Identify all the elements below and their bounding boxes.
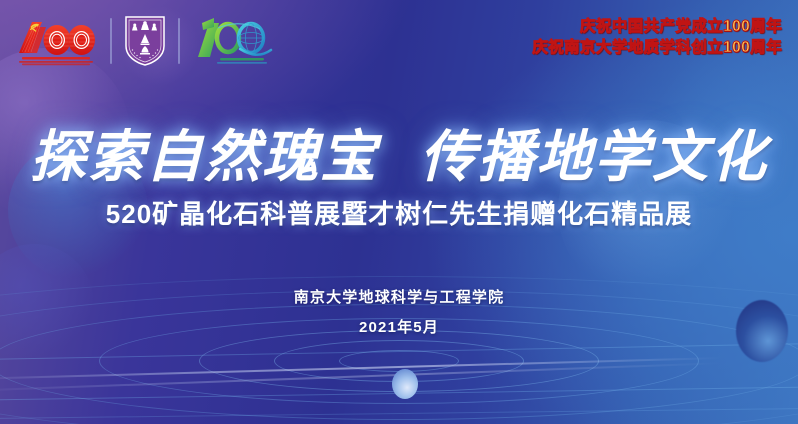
background-ring [199,330,599,392]
geology-100th-anniversary-icon [192,14,278,68]
nanjing-university-shield-icon [124,15,166,67]
background-sphere-glow [392,369,418,399]
background-ring [274,340,524,382]
logo-nanjing-university [124,15,166,67]
cpc-100th-anniversary-icon [14,16,98,66]
poster-main-title: 探索自然瑰宝传播地学文化 [0,112,798,193]
organizer-name: 南京大学地球科学与工程学院 [0,286,798,307]
background-sweep-line [0,358,798,393]
title-part-1: 探索自然瑰宝 [30,124,378,190]
background-sweep-line [0,354,798,381]
title-part-2: 传播地学文化 [420,124,768,190]
logo-divider [110,18,112,64]
poster-subtitle: 520矿晶化石科普展暨才树仁先生捐赠化石精品展 [0,194,798,231]
exhibition-poster: 庆祝中国共产党成立100周年 庆祝南京大学地质学科创立100周年 探索自然瑰宝传… [0,0,798,424]
background-horizon-line [0,386,798,401]
slogan-line-2: 庆祝南京大学地质学科创立100周年 [532,37,782,58]
logo-divider [178,18,180,64]
logo-bar [14,14,278,68]
logo-cpc-100 [14,16,98,66]
slogan-line-1: 庆祝中国共产党成立100周年 [532,16,782,37]
anniversary-slogans: 庆祝中国共产党成立100周年 庆祝南京大学地质学科创立100周年 [532,16,782,59]
background-horizon-line [0,408,798,420]
background-ring [339,350,459,372]
logo-geology-100 [192,14,278,68]
event-date: 2021年5月 [0,316,798,337]
background-ring [0,290,798,424]
background-horizon-line [0,343,798,361]
